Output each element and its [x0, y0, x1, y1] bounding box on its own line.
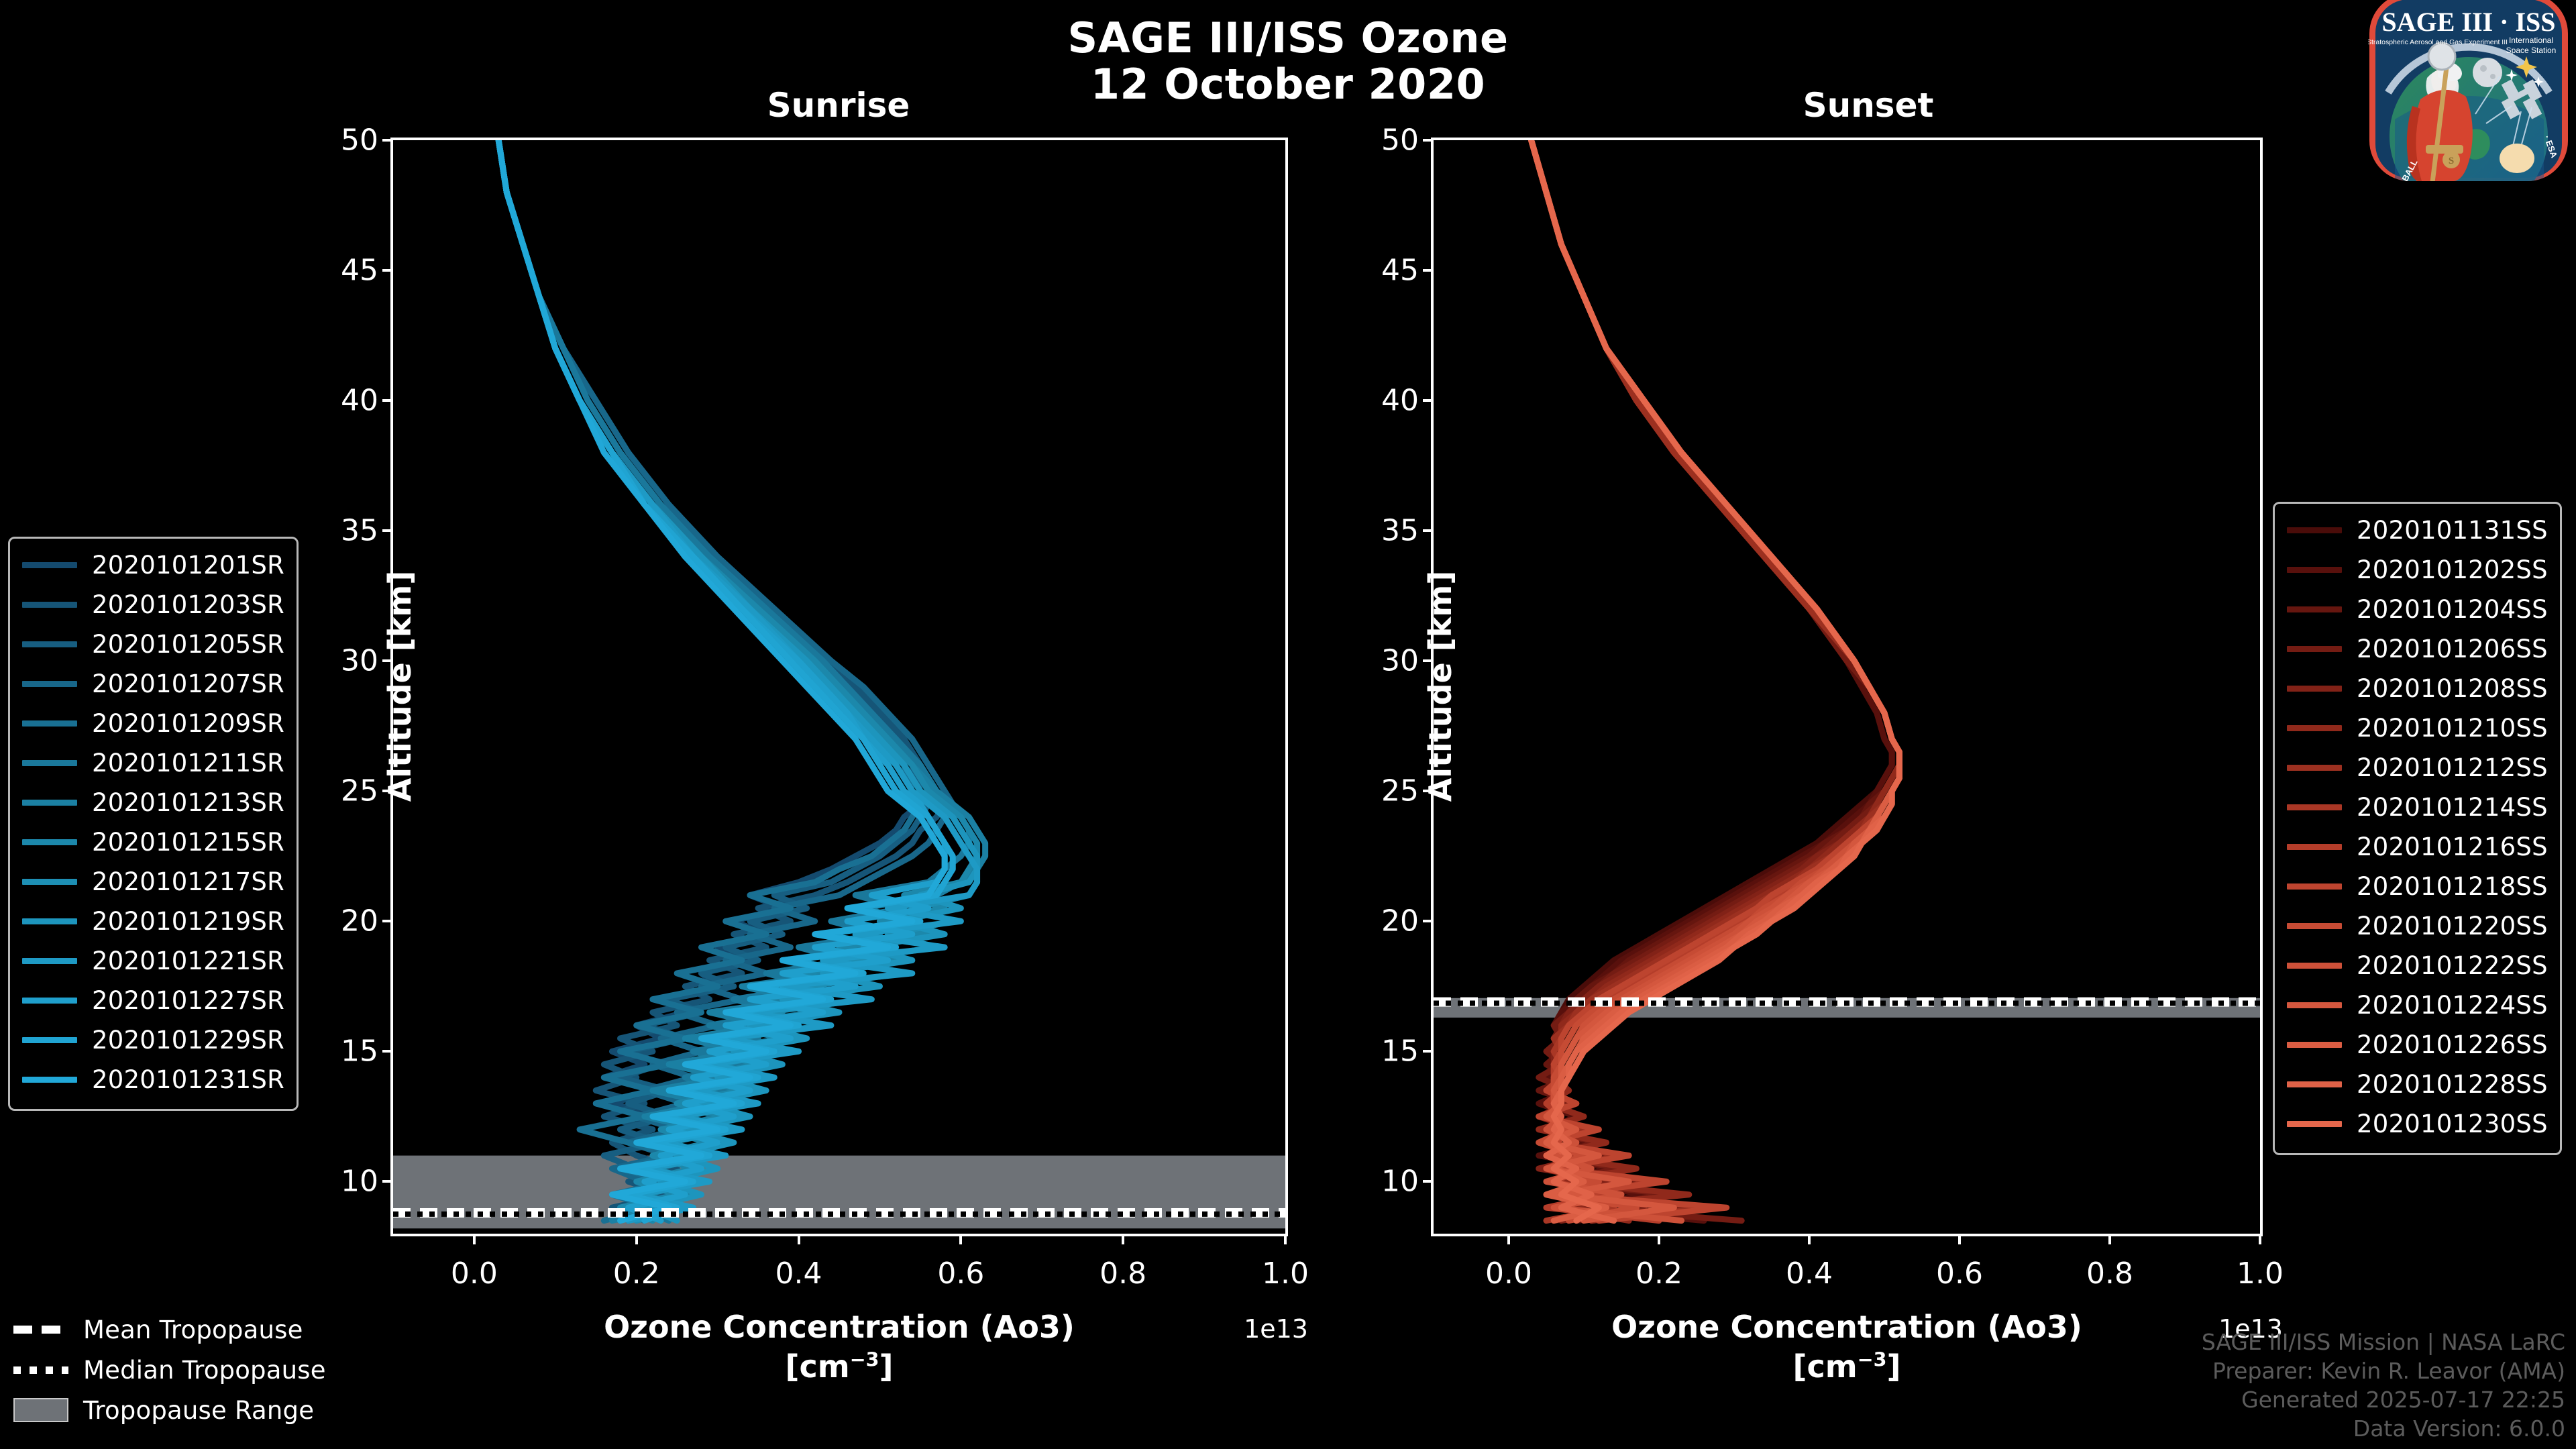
legend-sunset-item[interactable]: 2020101224SS: [2287, 985, 2548, 1025]
legend-item-label: 2020101229SR: [92, 1026, 284, 1055]
plot-inner-sunset: [1434, 140, 2260, 1234]
legend-tropopause-item[interactable]: Tropopause Range: [13, 1390, 326, 1430]
legend-item-label: 2020101214SS: [2357, 793, 2548, 822]
legend-item-label: 2020101205SR: [92, 630, 284, 659]
y-tick-label: 40: [1338, 384, 1434, 418]
y-tick-mark: [1423, 1180, 1434, 1183]
legend-color-swatch: [2287, 765, 2342, 771]
legend-sunset-item[interactable]: 2020101131SS: [2287, 511, 2548, 550]
legend-item-label: 2020101230SS: [2357, 1110, 2548, 1138]
y-tick-label: 50: [1338, 123, 1434, 158]
legend-item-label: 2020101219SR: [92, 907, 284, 936]
legend-sunrise-item[interactable]: 2020101209SR: [22, 704, 284, 743]
legend-item-label: 2020101216SS: [2357, 833, 2548, 861]
x-tick-mark: [1658, 1234, 1660, 1244]
logo-subtitle-right-2: Space Station: [2506, 46, 2557, 55]
x-tick-mark: [798, 1234, 800, 1244]
legend-color-swatch: [2287, 1081, 2342, 1087]
legend-color-swatch: [2287, 1002, 2342, 1008]
x-axis-units: [cm−3]: [1353, 1347, 2341, 1387]
legend-color-swatch: [22, 1077, 77, 1083]
legend-sunrise-item[interactable]: 2020101229SR: [22, 1020, 284, 1060]
legend-color-swatch: [22, 681, 77, 687]
legend-sunrise-item[interactable]: 2020101201SR: [22, 545, 284, 585]
plot-area-sunrise: 101520253035404550 0.00.20.40.60.81.0 Al…: [390, 138, 1288, 1236]
legend-sunrise-item[interactable]: 2020101227SR: [22, 981, 284, 1020]
legend-item-label: 2020101224SS: [2357, 991, 2548, 1020]
legend-sunrise-item[interactable]: 2020101231SR: [22, 1060, 284, 1099]
legend-color-swatch: [22, 918, 77, 924]
legend-item-label: 2020101208SS: [2357, 674, 2548, 703]
legend-color-swatch: [2287, 646, 2342, 652]
x-tick-label: 0.8: [1063, 1256, 1183, 1291]
legend-color-swatch: [2287, 963, 2342, 969]
legend-color-swatch: [2287, 804, 2342, 810]
profile-line: [498, 140, 945, 1221]
legend-color-swatch: [2287, 567, 2342, 573]
y-tick-label: 25: [298, 774, 393, 808]
legend-sunset-item[interactable]: 2020101206SS: [2287, 629, 2548, 669]
x-tick-label: 0.6: [1899, 1256, 2020, 1291]
footer-line-preparer: Preparer: Kevin R. Leavor (AMA): [2202, 1357, 2565, 1386]
legend-color-swatch: [22, 839, 77, 845]
legend-color-swatch: [2287, 1042, 2342, 1048]
x-axis-offset-sunrise: 1e13: [1244, 1314, 1308, 1344]
x-tick-label: 0.6: [900, 1256, 1021, 1291]
legend-color-swatch: [22, 562, 77, 568]
legend-tropopause[interactable]: Mean TropopauseMedian TropopauseTropopau…: [13, 1309, 326, 1430]
legend-sunrise-item[interactable]: 2020101221SR: [22, 941, 284, 981]
y-tick-label: 50: [298, 123, 393, 158]
legend-item-label: 2020101226SS: [2357, 1030, 2548, 1059]
plot-area-sunset: 101520253035404550 0.00.20.40.60.81.0 Al…: [1431, 138, 2263, 1236]
x-tick-mark: [1122, 1234, 1124, 1244]
legend-item-label: 2020101201SR: [92, 551, 284, 580]
x-tick-label: 0.4: [739, 1256, 859, 1291]
legend-color-swatch: [2287, 686, 2342, 692]
legend-color-swatch: [2287, 606, 2342, 612]
footer-line-mission: SAGE III/ISS Mission | NASA LaRC: [2202, 1328, 2565, 1357]
legend-sunrise-item[interactable]: 2020101207SR: [22, 664, 284, 704]
x-axis-label-text: Ozone Concentration (Ao3): [604, 1309, 1075, 1345]
legend-item-label: 2020101221SR: [92, 947, 284, 975]
legend-item-label: 2020101222SS: [2357, 951, 2548, 980]
legend-sunrise-item[interactable]: 2020101203SR: [22, 585, 284, 625]
profile-curves-sunset: [1434, 140, 2260, 1234]
legend-item-label: Median Tropopause: [83, 1356, 326, 1385]
legend-sunset-item[interactable]: 2020101230SS: [2287, 1104, 2548, 1144]
x-tick-label: 0.8: [2049, 1256, 2170, 1291]
y-tick-mark: [1423, 1050, 1434, 1053]
legend-item-label: 2020101209SR: [92, 709, 284, 738]
legend-item-label: 2020101131SS: [2357, 516, 2548, 545]
x-tick-mark: [959, 1234, 962, 1244]
svg-text:S: S: [2449, 156, 2454, 166]
y-tick-label: 15: [298, 1034, 393, 1069]
legend-item-label: Tropopause Range: [83, 1396, 314, 1425]
y-tick-mark: [382, 1180, 393, 1183]
panel-title-sunrise: Sunrise: [402, 86, 1275, 125]
x-tick-label: 0.2: [1599, 1256, 1719, 1291]
footer-line-version: Data Version: 6.0.0: [2202, 1415, 2565, 1444]
legend-item-label: 2020101210SS: [2357, 714, 2548, 743]
legend-color-swatch: [22, 760, 77, 766]
y-tick-mark: [1423, 529, 1434, 532]
profile-line: [1532, 140, 1900, 1221]
x-tick-label: 0.0: [414, 1256, 535, 1291]
legend-color-swatch: [22, 958, 77, 964]
y-tick-label: 30: [1338, 644, 1434, 678]
y-tick-mark: [1423, 920, 1434, 922]
x-tick-mark: [1507, 1234, 1510, 1244]
legend-item-label: Mean Tropopause: [83, 1316, 303, 1344]
legend-sunset-item[interactable]: 2020101216SS: [2287, 827, 2548, 867]
legend-sunset-item[interactable]: 2020101208SS: [2287, 669, 2548, 708]
y-tick-label: 30: [298, 644, 393, 678]
x-tick-mark: [473, 1234, 476, 1244]
legend-item-label: 2020101217SR: [92, 867, 284, 896]
legend-sunrise-item[interactable]: 2020101205SR: [22, 625, 284, 664]
panel-title-sunset: Sunset: [1432, 86, 2304, 125]
y-tick-label: 10: [298, 1165, 393, 1199]
legend-sunrise-item[interactable]: 2020101219SR: [22, 902, 284, 941]
legend-sunrise-item[interactable]: 2020101215SR: [22, 822, 284, 862]
legend-color-swatch: [2287, 1121, 2342, 1127]
y-tick-mark: [382, 269, 393, 272]
legend-item-label: 2020101212SS: [2357, 753, 2548, 782]
y-tick-label: 20: [1338, 904, 1434, 938]
legend-tropopause-item[interactable]: Median Tropopause: [13, 1350, 326, 1390]
y-axis-label-sunset: Altitude [km]: [1422, 545, 1458, 827]
y-tick-label: 45: [298, 254, 393, 288]
y-tick-label: 35: [1338, 514, 1434, 548]
y-tick-label: 45: [1338, 254, 1434, 288]
legend-sunset-item[interactable]: 2020101210SS: [2287, 708, 2548, 748]
y-tick-mark: [382, 920, 393, 922]
x-tick-mark: [2108, 1234, 2111, 1244]
y-tick-label: 15: [1338, 1034, 1434, 1069]
legend-color-swatch: [2287, 923, 2342, 929]
y-tick-label: 20: [298, 904, 393, 938]
y-tick-mark: [382, 399, 393, 402]
x-tick-mark: [1958, 1234, 1961, 1244]
y-tick-label: 35: [298, 514, 393, 548]
legend-band-swatch: [13, 1398, 68, 1422]
y-tick-mark: [1423, 269, 1434, 272]
y-axis-label-sunrise: Altitude [km]: [382, 545, 418, 827]
legend-item-label: 2020101213SR: [92, 788, 284, 817]
legend-sunset-item[interactable]: 2020101222SS: [2287, 946, 2548, 985]
legend-item-label: 2020101202SS: [2357, 555, 2548, 584]
legend-sunset-item[interactable]: 2020101220SS: [2287, 906, 2548, 946]
profile-curves-sunrise: [393, 140, 1285, 1234]
legend-item-label: 2020101203SR: [92, 590, 284, 619]
legend-item-label: 2020101231SR: [92, 1065, 284, 1094]
legend-item-label: 2020101204SS: [2357, 595, 2548, 624]
y-tick-mark: [1423, 139, 1434, 142]
x-axis-units: [cm−3]: [313, 1347, 1366, 1387]
legend-sunrise-item[interactable]: 2020101217SR: [22, 862, 284, 902]
legend-color-swatch: [22, 720, 77, 727]
legend-item-label: 2020101220SS: [2357, 912, 2548, 941]
x-tick-label: 1.0: [1225, 1256, 1346, 1291]
x-tick-mark: [2259, 1234, 2261, 1244]
y-tick-mark: [1423, 399, 1434, 402]
legend-color-swatch: [22, 800, 77, 806]
legend-sunset-item[interactable]: 2020101212SS: [2287, 748, 2548, 788]
y-tick-label: 25: [1338, 774, 1434, 808]
y-tick-mark: [382, 529, 393, 532]
x-tick-label: 0.4: [1749, 1256, 1870, 1291]
logo-title: SAGE III · ISS: [2381, 7, 2555, 37]
legend-sunrise-item[interactable]: 2020101213SR: [22, 783, 284, 822]
legend-tropopause-item[interactable]: Mean Tropopause: [13, 1309, 326, 1350]
y-tick-label: 40: [298, 384, 393, 418]
legend-sunset[interactable]: 2020101131SS2020101202SS2020101204SS2020…: [2273, 502, 2562, 1155]
legend-sunset-item[interactable]: 2020101218SS: [2287, 867, 2548, 906]
plot-inner-sunrise: [393, 140, 1285, 1234]
x-tick-mark: [1808, 1234, 1811, 1244]
x-axis-label-text: Ozone Concentration (Ao3): [1611, 1309, 2082, 1345]
y-tick-mark: [382, 139, 393, 142]
y-tick-mark: [382, 1050, 393, 1053]
x-tick-label: 0.0: [1448, 1256, 1569, 1291]
legend-item-label: 2020101207SR: [92, 669, 284, 698]
legend-sunset-item[interactable]: 2020101228SS: [2287, 1065, 2548, 1104]
legend-color-swatch: [22, 602, 77, 608]
x-tick-mark: [635, 1234, 638, 1244]
legend-item-label: 2020101227SR: [92, 986, 284, 1015]
legend-sunrise[interactable]: 2020101201SR2020101203SR2020101205SR2020…: [8, 537, 299, 1111]
legend-dotted-swatch: [13, 1366, 68, 1374]
x-tick-label: 1.0: [2200, 1256, 2320, 1291]
logo-subtitle-left: Stratospheric Aerosol and Gas Experiment…: [2368, 38, 2508, 46]
sage-iii-iss-mission-patch-logo: S SAGE III · ISS Stratospheric Aerosol a…: [2368, 0, 2569, 181]
legend-color-swatch: [2287, 725, 2342, 731]
legend-color-swatch: [22, 998, 77, 1004]
x-axis-label-sunset: Ozone Concentration (Ao3) [cm−3]: [1353, 1307, 2341, 1387]
legend-color-swatch: [2287, 883, 2342, 890]
x-tick-mark: [1284, 1234, 1287, 1244]
legend-color-swatch: [22, 879, 77, 885]
legend-dashed-swatch: [13, 1326, 68, 1334]
legend-item-label: 2020101206SS: [2357, 635, 2548, 663]
legend-sunset-item[interactable]: 2020101204SS: [2287, 590, 2548, 629]
legend-color-swatch: [2287, 527, 2342, 533]
legend-color-swatch: [22, 1037, 77, 1043]
y-tick-label: 10: [1338, 1165, 1434, 1199]
x-axis-label-sunrise: Ozone Concentration (Ao3) [cm−3]: [313, 1307, 1366, 1387]
legend-item-label: 2020101228SS: [2357, 1070, 2548, 1099]
legend-item-label: 2020101211SR: [92, 749, 284, 777]
legend-sunrise-item[interactable]: 2020101211SR: [22, 743, 284, 783]
legend-sunset-item[interactable]: 2020101226SS: [2287, 1025, 2548, 1065]
legend-sunset-item[interactable]: 2020101202SS: [2287, 550, 2548, 590]
legend-item-label: 2020101218SS: [2357, 872, 2548, 901]
main-title-line1: SAGE III/ISS Ozone: [1067, 13, 1508, 62]
footer-line-generated: Generated 2025-07-17 22:25: [2202, 1386, 2565, 1415]
legend-color-swatch: [22, 641, 77, 647]
legend-item-label: 2020101215SR: [92, 828, 284, 857]
footer-attribution: SAGE III/ISS Mission | NASA LaRC Prepare…: [2202, 1328, 2565, 1444]
logo-subtitle-right-1: International: [2509, 36, 2553, 45]
legend-sunset-item[interactable]: 2020101214SS: [2287, 788, 2548, 827]
legend-color-swatch: [2287, 844, 2342, 850]
x-tick-label: 0.2: [576, 1256, 697, 1291]
